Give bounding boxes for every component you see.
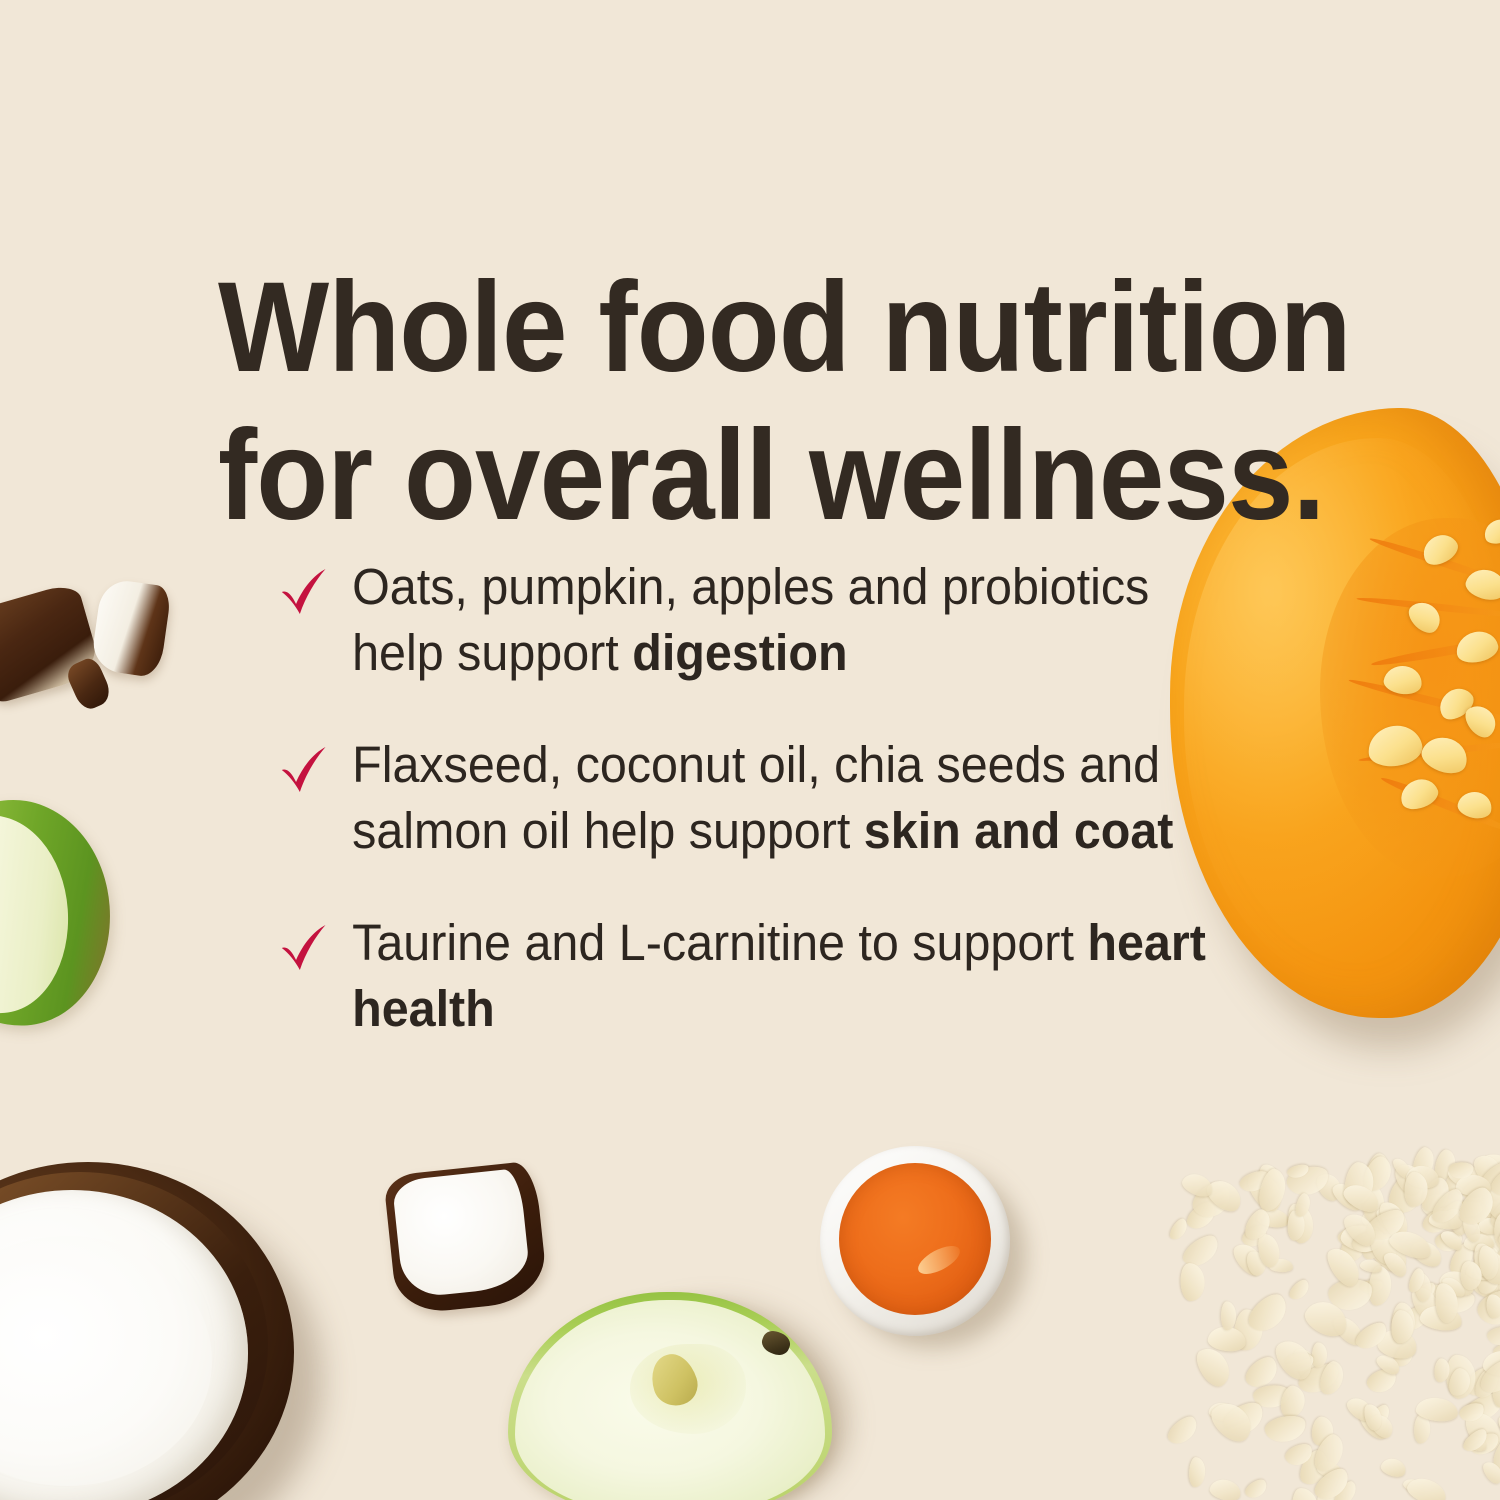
oat-flake: [1373, 1201, 1407, 1236]
headline-line-1: Whole food nutrition: [218, 254, 1248, 402]
oat-flake: [1350, 1227, 1388, 1257]
oat-flake: [1446, 1240, 1477, 1277]
oat-flake: [1404, 1473, 1450, 1500]
oat-flake: [1482, 1351, 1500, 1377]
oat-flake: [1375, 1197, 1413, 1243]
oat-flake: [1207, 1400, 1238, 1423]
oat-flake: [1364, 1365, 1400, 1396]
oat-flake: [1480, 1458, 1500, 1486]
oat-flake: [1284, 1351, 1314, 1372]
rolled-oats-image: [1140, 1134, 1500, 1500]
oat-flake: [1487, 1194, 1500, 1234]
oat-flake: [1205, 1396, 1258, 1448]
oat-flake: [1414, 1414, 1431, 1443]
oat-flake: [1296, 1447, 1333, 1489]
oat-flake: [1491, 1341, 1500, 1361]
oat-flake: [1359, 1258, 1383, 1275]
oil-bowl-shadow: [840, 1164, 1026, 1348]
oat-flake: [1487, 1159, 1500, 1202]
oat-flake: [1478, 1217, 1500, 1235]
oat-flake: [1467, 1429, 1500, 1458]
apple-slice-image: [0, 793, 122, 1036]
oat-flake: [1352, 1318, 1391, 1354]
apple-half-image: [508, 1292, 848, 1500]
oat-flake: [1379, 1456, 1408, 1480]
oat-flake: [1475, 1265, 1500, 1297]
oat-flake: [1367, 1229, 1403, 1268]
oat-flake: [1458, 1401, 1487, 1425]
oil-bowl-highlight: [914, 1240, 964, 1279]
oat-flake: [1406, 1266, 1427, 1294]
oat-flake: [1460, 1388, 1500, 1427]
oat-flake: [1167, 1216, 1191, 1243]
oat-flake: [1243, 1477, 1270, 1500]
coconut-husk: [0, 1162, 294, 1500]
oat-flake: [1438, 1227, 1465, 1253]
benefit-item-heart-health: Taurine and L-carnitine to support heart…: [278, 910, 1209, 1042]
apple-slice-skin: [0, 794, 118, 1033]
oat-flake: [1470, 1242, 1500, 1289]
oat-flake: [1454, 1200, 1485, 1218]
coconut-chunk-image: [383, 1160, 549, 1315]
oat-flake: [1412, 1280, 1438, 1303]
oat-flake: [1367, 1265, 1393, 1307]
oat-flake: [1405, 1164, 1440, 1190]
oat-flake: [1241, 1352, 1283, 1393]
oat-flake: [1493, 1211, 1500, 1252]
oat-flake: [1263, 1414, 1308, 1446]
oat-flake: [1492, 1372, 1500, 1408]
oat-flake: [1459, 1175, 1493, 1205]
oat-flake: [1474, 1265, 1500, 1287]
oat-flake: [1445, 1158, 1488, 1194]
oat-flake: [1270, 1333, 1319, 1385]
oat-flake: [1363, 1151, 1393, 1189]
oat-flake: [1467, 1214, 1500, 1256]
oat-flake: [1367, 1410, 1398, 1441]
oat-flake: [1469, 1150, 1500, 1190]
oat-flake: [1282, 1440, 1315, 1469]
oat-flake: [1191, 1343, 1236, 1392]
oat-flake: [1340, 1179, 1383, 1216]
coconut-shadow: [0, 1196, 322, 1500]
coconut-rim: [0, 1172, 268, 1500]
oat-flake: [1469, 1243, 1500, 1284]
oat-flake: [1364, 1402, 1393, 1433]
oat-flake: [1376, 1326, 1419, 1361]
oat-flake: [1256, 1207, 1290, 1229]
oat-flake: [1239, 1221, 1270, 1250]
oat-flake: [1433, 1282, 1459, 1324]
oat-flake: [1316, 1458, 1344, 1479]
oat-flake: [1432, 1278, 1462, 1309]
benefit-item-digestion: Oats, pumpkin, apples and probiotics hel…: [278, 554, 1209, 686]
oat-flake: [1434, 1230, 1464, 1254]
apple-half-flesh: [515, 1300, 825, 1500]
oat-flake: [1408, 1236, 1446, 1270]
oat-flake: [1362, 1402, 1384, 1432]
oat-flake: [1474, 1242, 1500, 1287]
oat-flake: [1436, 1290, 1476, 1314]
oat-flake: [1444, 1205, 1471, 1237]
oat-flake: [1391, 1310, 1414, 1344]
product-benefits-poster: Whole food nutrition for overall wellnes…: [0, 0, 1500, 1500]
page-title: Whole food nutrition for overall wellnes…: [218, 254, 1248, 550]
oat-flake: [1485, 1174, 1500, 1202]
oat-flake: [1415, 1396, 1460, 1424]
oat-flake: [1419, 1190, 1458, 1223]
oat-flake: [1443, 1167, 1469, 1195]
coconut-inner-cavity: [0, 1236, 212, 1486]
oat-flake: [1487, 1266, 1500, 1286]
oat-flake: [1461, 1425, 1492, 1454]
oat-flake: [1486, 1198, 1500, 1245]
oat-flake: [1428, 1208, 1463, 1230]
oat-flake: [1384, 1170, 1429, 1220]
oat-flake: [1490, 1433, 1500, 1475]
oat-flake: [1496, 1401, 1500, 1436]
oat-flake: [1410, 1146, 1437, 1182]
oat-flake: [1183, 1198, 1220, 1234]
oat-flake: [1179, 1231, 1224, 1272]
oat-flake: [1460, 1260, 1482, 1290]
oat-flake: [1391, 1155, 1413, 1180]
oat-flake: [1187, 1177, 1237, 1225]
oat-flake: [1180, 1262, 1206, 1301]
oat-flake: [1477, 1244, 1500, 1280]
oat-flake: [1473, 1241, 1497, 1277]
apple-half-shadow: [578, 1304, 848, 1500]
oat-flake: [1313, 1168, 1347, 1203]
oat-flake: [1286, 1201, 1317, 1245]
oat-flake: [1310, 1463, 1354, 1500]
oat-flake: [1437, 1197, 1469, 1229]
apple-slice-flesh: [0, 810, 75, 1019]
oat-flake: [1255, 1232, 1282, 1269]
oat-flake: [1338, 1221, 1381, 1254]
oat-flake: [1238, 1168, 1272, 1195]
oat-flake: [1391, 1302, 1416, 1344]
oat-flake: [1241, 1206, 1275, 1244]
oat-flake: [1492, 1303, 1500, 1322]
oil-bowl-contents: [839, 1163, 991, 1315]
oat-flake: [1208, 1476, 1242, 1500]
oat-flake: [1486, 1293, 1500, 1318]
coconut-chunk-meat: [392, 1168, 532, 1299]
oat-flake: [1329, 1311, 1367, 1349]
oat-flake: [1285, 1163, 1332, 1199]
coconut-fragment-image: [64, 655, 115, 713]
oat-flake: [1439, 1274, 1467, 1300]
oat-flake: [1327, 1277, 1374, 1313]
coconut-flesh: [0, 1190, 248, 1500]
oat-flake: [1359, 1181, 1387, 1223]
oat-flake: [1310, 1415, 1334, 1446]
oat-flake: [1474, 1284, 1500, 1330]
oat-flake: [1480, 1187, 1500, 1223]
oat-flake: [1495, 1242, 1500, 1265]
oat-flake: [1268, 1259, 1293, 1274]
oat-flake: [1414, 1271, 1433, 1301]
oat-flake: [1486, 1325, 1500, 1347]
oat-flake: [1476, 1154, 1500, 1198]
oat-flake: [1221, 1301, 1236, 1330]
oat-flake: [1477, 1177, 1500, 1225]
oat-flake: [1233, 1308, 1265, 1352]
oat-flake: [1460, 1215, 1483, 1245]
oat-flake: [1294, 1192, 1313, 1219]
oat-flake: [1470, 1229, 1500, 1272]
oat-flake: [1398, 1302, 1432, 1335]
oat-flake: [1374, 1351, 1403, 1377]
oat-flake: [1203, 1174, 1248, 1216]
oat-flake: [1466, 1259, 1500, 1280]
oat-flake: [1336, 1223, 1374, 1250]
oat-flake: [1464, 1233, 1495, 1251]
oat-flake: [1343, 1161, 1377, 1208]
oat-flake: [1419, 1283, 1444, 1303]
oat-flake: [1432, 1147, 1458, 1182]
oat-flake: [1360, 1204, 1404, 1236]
oat-flake: [1245, 1249, 1269, 1278]
oat-flake: [1207, 1325, 1247, 1353]
oat-flake: [1188, 1457, 1205, 1488]
oat-flake: [1354, 1404, 1394, 1444]
oat-flake: [1391, 1342, 1417, 1371]
benefit-text-emphasis: skin and coat: [864, 802, 1174, 859]
oat-flake: [1402, 1476, 1427, 1495]
oat-flake: [1229, 1238, 1269, 1280]
oat-flake: [1255, 1166, 1289, 1213]
oat-flake: [1390, 1159, 1429, 1200]
oat-flake: [1164, 1413, 1201, 1449]
oat-flake: [1335, 1221, 1375, 1268]
oat-flake: [1312, 1343, 1327, 1369]
oat-flake: [1242, 1166, 1288, 1216]
oat-flake: [1243, 1288, 1293, 1338]
oat-flake: [1339, 1208, 1381, 1250]
oat-flake: [1287, 1210, 1305, 1240]
apple-half-seed: [645, 1348, 703, 1411]
coconut-fragment-image: [0, 581, 103, 706]
coconut-fragment-image: [90, 578, 172, 679]
oat-flake: [1323, 1243, 1366, 1291]
oat-flake: [1286, 1162, 1311, 1180]
oat-flake: [1311, 1431, 1349, 1477]
coconut-half-image: [0, 1162, 332, 1500]
oat-flake: [1219, 1397, 1269, 1441]
oat-flake: [1448, 1161, 1473, 1179]
oat-flake: [1490, 1201, 1500, 1222]
oat-flake: [1381, 1248, 1411, 1279]
oat-flake: [1445, 1354, 1477, 1399]
oat-flake: [1476, 1355, 1500, 1399]
oat-flake: [1418, 1303, 1463, 1333]
oat-flake: [1460, 1257, 1500, 1302]
coconut-chunk-shell: [383, 1160, 549, 1315]
benefit-text: Taurine and L-carnitine to support: [352, 914, 1087, 971]
oat-flake: [1359, 1279, 1384, 1295]
oat-flake: [1359, 1153, 1396, 1196]
oat-flake: [1473, 1248, 1500, 1297]
oat-flake: [1493, 1407, 1500, 1451]
oat-flake: [1278, 1384, 1308, 1420]
oat-flake: [1462, 1364, 1499, 1402]
oat-flake: [1287, 1276, 1313, 1302]
oat-flake: [1332, 1479, 1360, 1500]
oat-flake: [1418, 1174, 1455, 1217]
oat-flake: [1317, 1359, 1347, 1398]
oat-flake: [1434, 1358, 1451, 1383]
oat-flake: [1404, 1171, 1428, 1207]
oat-flake: [1295, 1359, 1343, 1398]
oat-flake: [1419, 1203, 1457, 1238]
oat-flake: [1363, 1205, 1410, 1246]
oat-flake: [1343, 1394, 1376, 1426]
apple-half-skin: [508, 1292, 832, 1500]
oat-flake: [1180, 1170, 1217, 1201]
check-icon: [278, 744, 331, 796]
benefit-text-emphasis: digestion: [632, 624, 847, 681]
oat-flake: [1447, 1366, 1474, 1398]
oat-flake: [1363, 1229, 1413, 1278]
check-icon: [278, 922, 331, 974]
oat-flake: [1289, 1344, 1326, 1389]
oat-flake: [1257, 1163, 1284, 1201]
oat-flake: [1454, 1183, 1500, 1232]
oat-flake: [1463, 1434, 1488, 1454]
oat-flake: [1386, 1226, 1435, 1263]
oat-flake: [1252, 1384, 1290, 1409]
oat-flake: [1471, 1365, 1500, 1402]
oat-flake: [1496, 1212, 1500, 1253]
benefit-item-skin-and-coat: Flaxseed, coconut oil, chia seeds and sa…: [278, 732, 1209, 864]
check-icon: [278, 566, 331, 618]
oat-flake: [1289, 1486, 1321, 1500]
oat-flake: [1466, 1191, 1492, 1227]
oat-flake: [1489, 1189, 1500, 1233]
apple-half-stem: [759, 1328, 793, 1359]
oat-flake: [1329, 1178, 1367, 1214]
oat-flake: [1437, 1267, 1477, 1299]
oil-bowl-image: [820, 1146, 1020, 1352]
oat-flake: [1472, 1147, 1500, 1194]
oat-flake: [1456, 1174, 1492, 1197]
benefits-list: Oats, pumpkin, apples and probiotics hel…: [278, 554, 1258, 1042]
oat-flake: [1312, 1485, 1357, 1500]
oat-flake: [1428, 1185, 1470, 1229]
oat-flake: [1360, 1225, 1387, 1262]
oat-flake: [1407, 1283, 1443, 1324]
pumpkin-cavity: [1320, 518, 1500, 878]
oat-flake: [1460, 1405, 1500, 1456]
oil-bowl-rim: [820, 1146, 1010, 1336]
oat-flake: [1300, 1295, 1352, 1342]
apple-half-core: [630, 1344, 746, 1434]
headline-line-2: for overall wellness.: [218, 402, 1248, 550]
